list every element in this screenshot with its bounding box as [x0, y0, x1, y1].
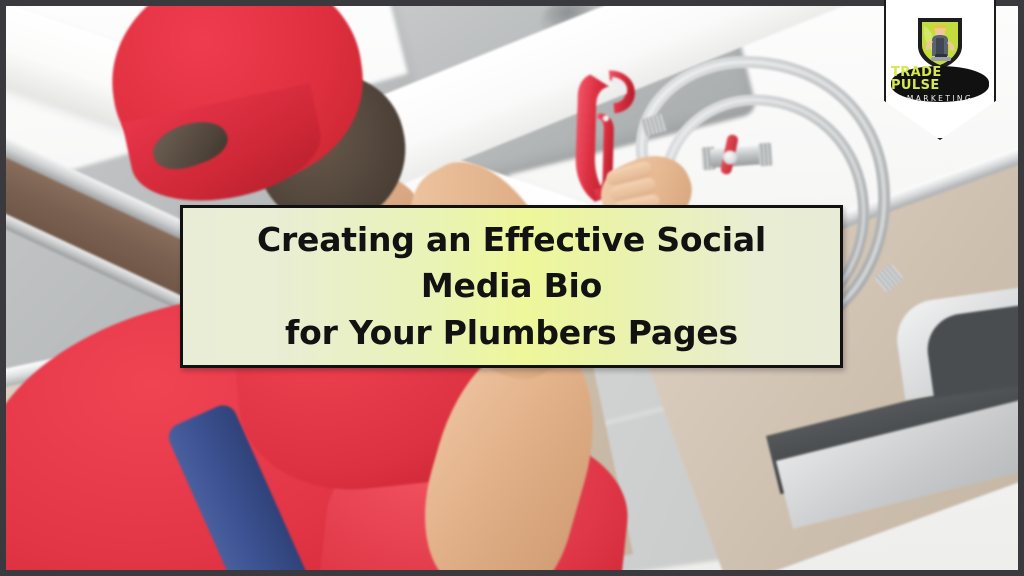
logo-wordmark-bottom: MARKETING [907, 95, 973, 103]
page-title: Creating an Effective Social Media Bio f… [183, 217, 840, 356]
logo-wordmark: TRADE PULSE MARKETING [891, 66, 989, 102]
red-ball-valve [701, 140, 773, 173]
title-line-2: for Your Plumbers Pages [285, 313, 738, 352]
plumber-worker-shield-icon [912, 14, 968, 72]
title-line-1: Creating an Effective Social Media Bio [257, 220, 766, 305]
logo-wordmark-top: TRADE PULSE [891, 66, 989, 92]
title-banner: Creating an Effective Social Media Bio f… [180, 205, 843, 368]
slide-canvas: Creating an Effective Social Media Bio f… [0, 0, 1024, 576]
